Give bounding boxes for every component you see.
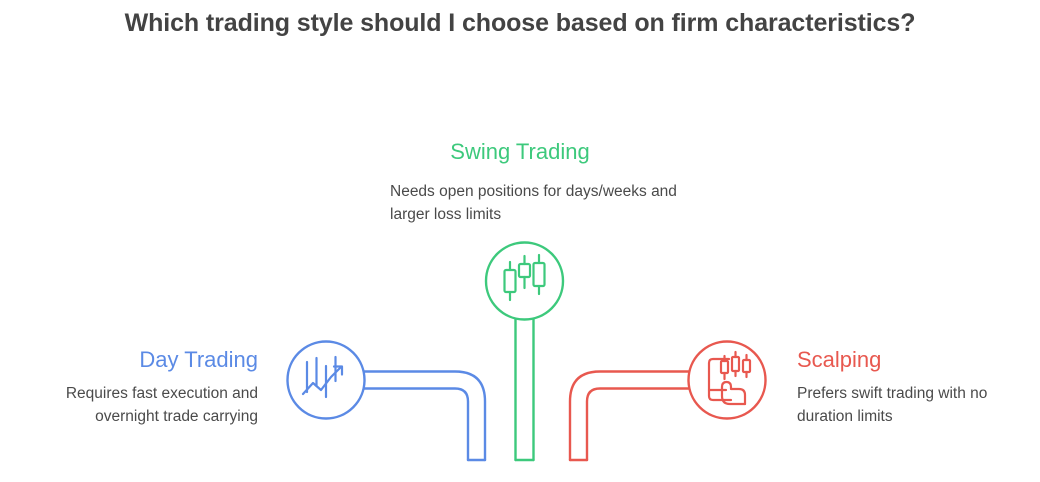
day-trading-description: Requires fast execution and overnight tr… (0, 382, 258, 428)
scalping-node[interactable] (689, 342, 766, 419)
scalping-label: Scalping (797, 346, 1040, 374)
day-trading-connector (352, 372, 485, 461)
day-trading-label: Day Trading (0, 346, 258, 374)
swing-trading-description: Needs open positions for days/weeks and … (390, 180, 680, 226)
day-trading-node[interactable] (288, 342, 365, 419)
infographic-canvas: Which trading style should I choose base… (0, 0, 1040, 482)
scalping-circle (689, 342, 766, 419)
swing-trading-connector (516, 318, 534, 460)
scalping-description: Prefers swift trading with no duration l… (797, 382, 1040, 428)
scalping-connector (570, 372, 703, 461)
swing-trading-node[interactable] (486, 243, 563, 320)
swing-trading-label: Swing Trading (370, 138, 670, 166)
